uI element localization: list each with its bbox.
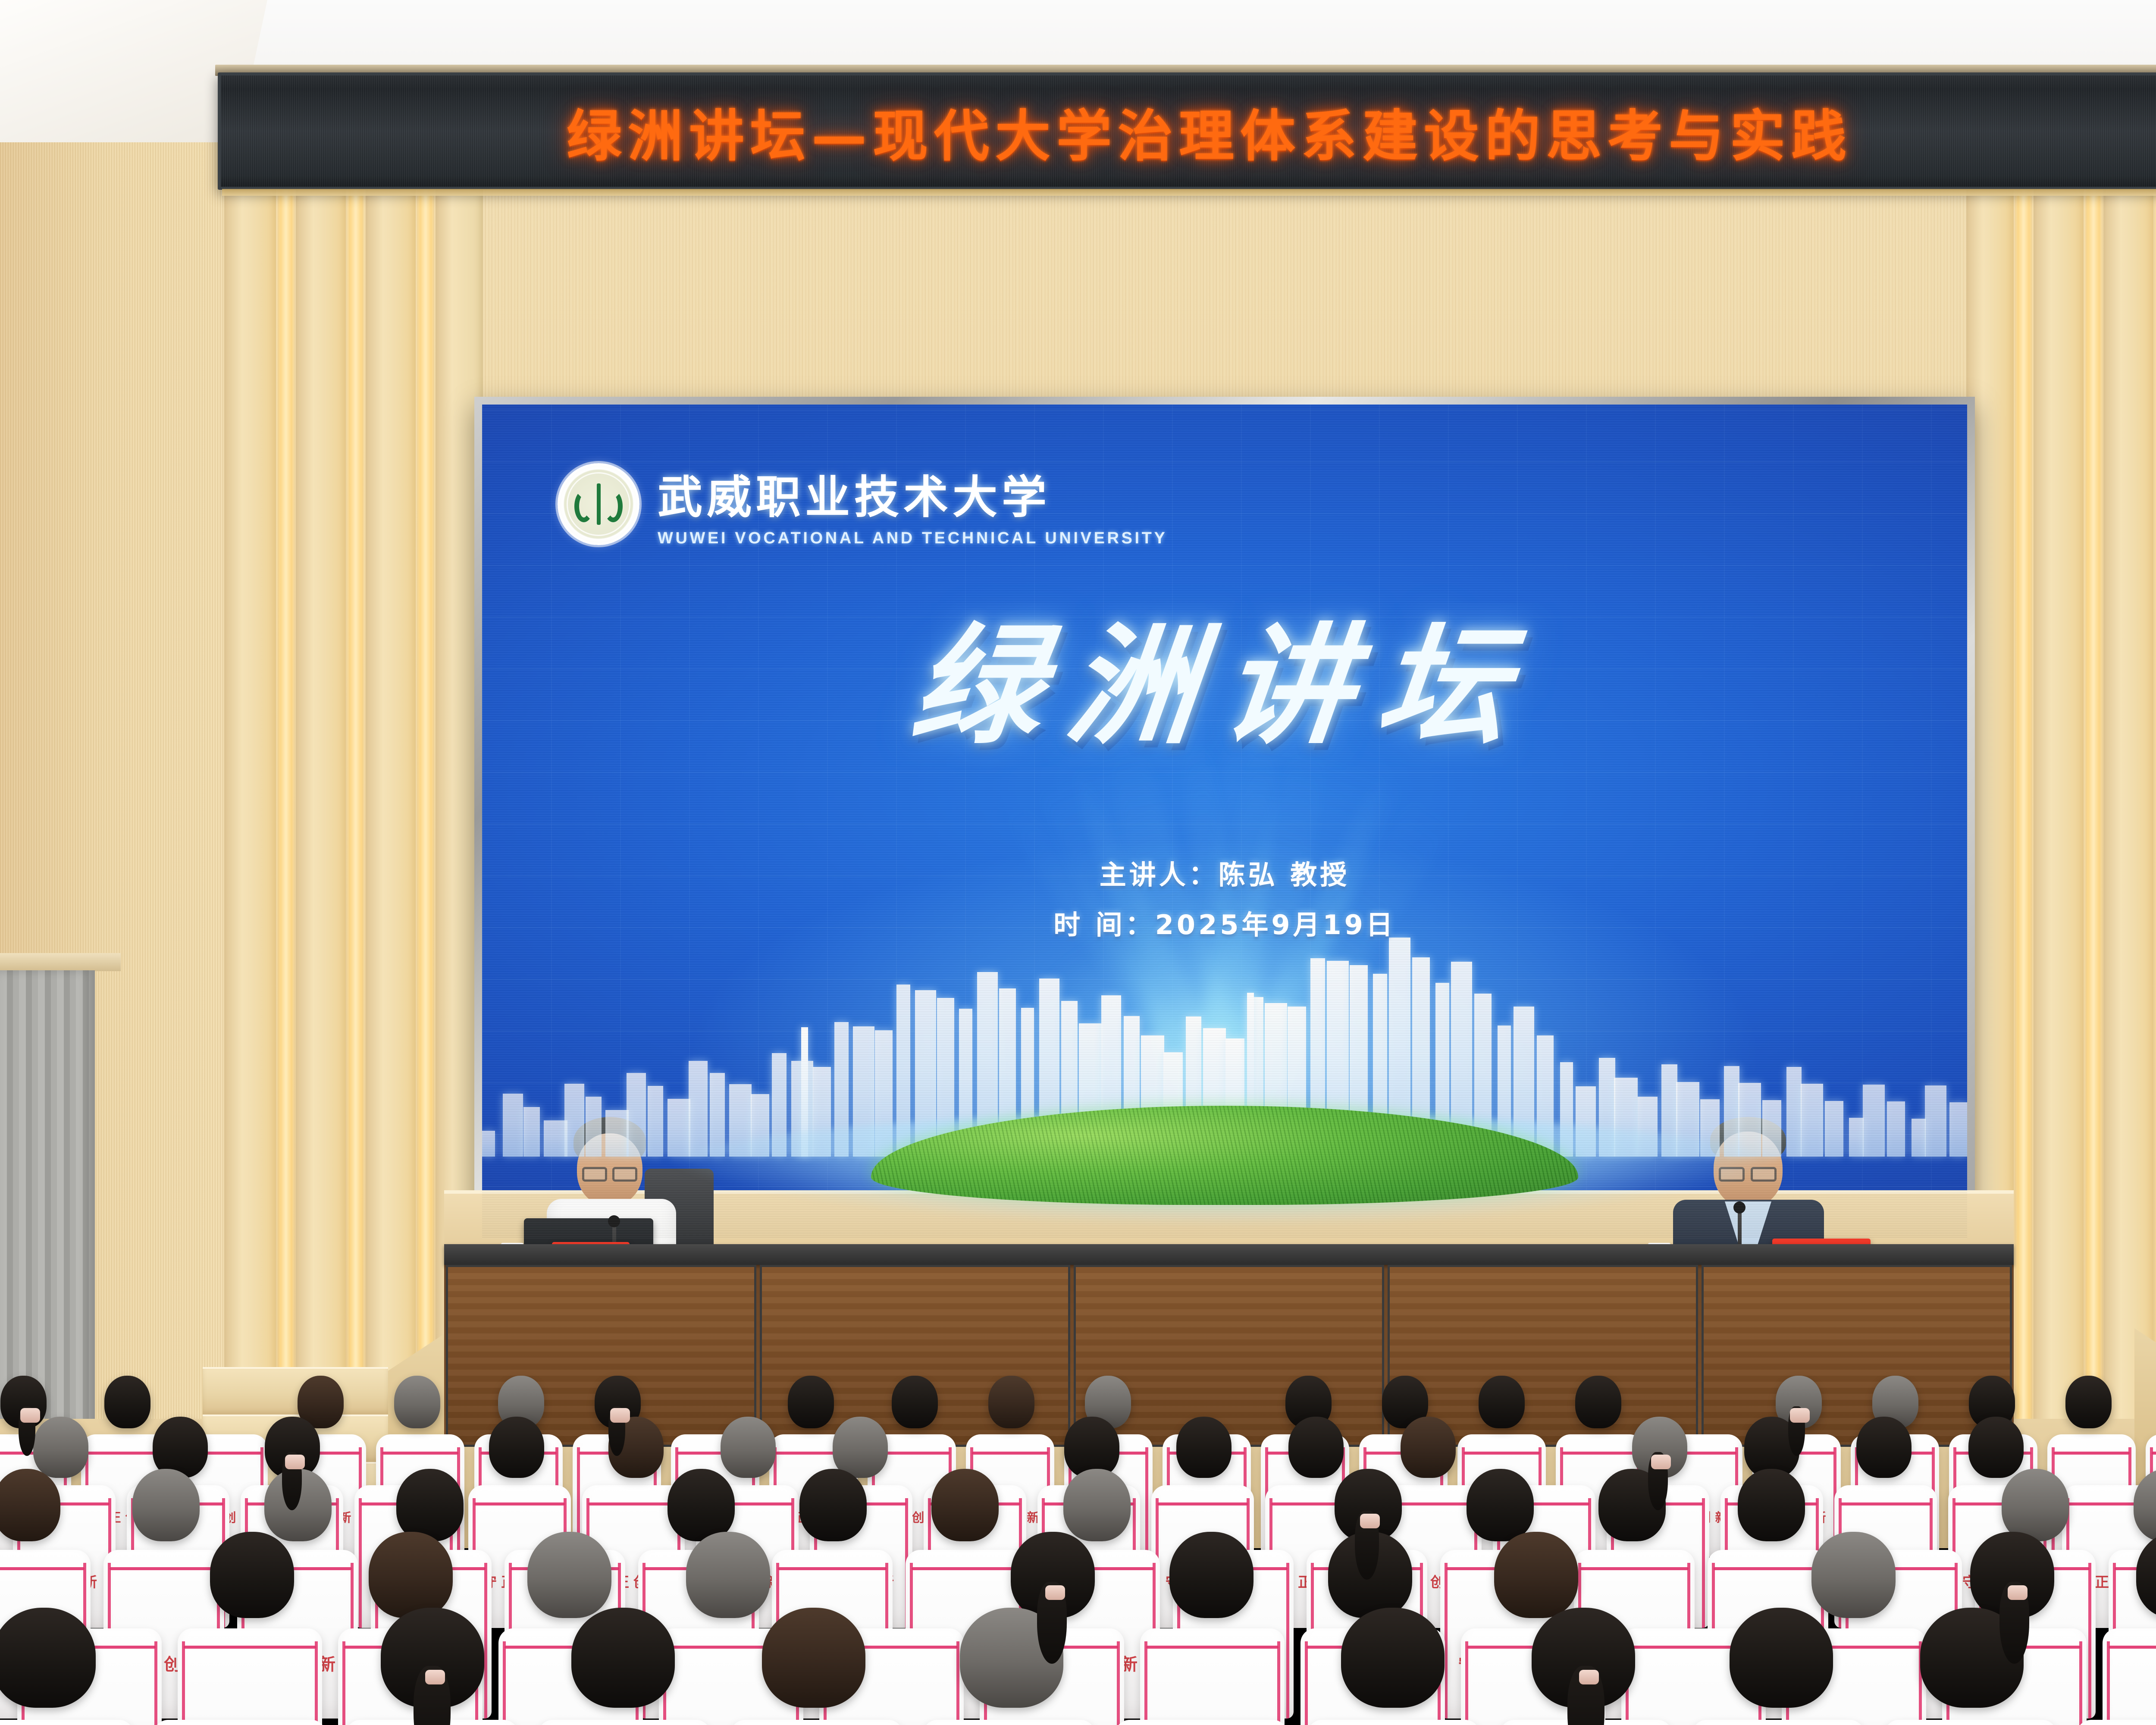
audience-head [33, 1417, 89, 1478]
seat-piping [1840, 1502, 1931, 1505]
seat-piping [1117, 1641, 1120, 1725]
audience-head [527, 1532, 611, 1618]
hair-clip [285, 1455, 305, 1469]
hair-clip [1045, 1585, 1065, 1600]
seat-piping [1286, 1563, 1289, 1719]
skyline-building [627, 1073, 646, 1157]
seat-piping [1145, 1447, 1148, 1557]
audience-head [1968, 1417, 2024, 1478]
led-screen: 武威职业技术大学 WUWEI VOCATIONAL AND TECHNICAL … [482, 405, 1967, 1239]
skyline-building [1786, 1067, 1802, 1157]
seat-piping [182, 1641, 185, 1725]
seat-piping [2109, 1646, 2156, 1649]
audience-head [2065, 1376, 2112, 1428]
forum-meta: 主讲人：陈弘 教授 时 间：2025年9月19日 [482, 853, 1967, 953]
audience-head [892, 1376, 938, 1428]
hair-clip [1360, 1514, 1380, 1528]
audience-seat[interactable]: 守正创新 [2077, 1720, 2156, 1725]
audience-head [1176, 1417, 1232, 1478]
city-skyline-graphic [482, 966, 1967, 1207]
seat-piping [1562, 1452, 1638, 1455]
audience-head [762, 1608, 865, 1708]
seat-piping [1277, 1641, 1280, 1725]
audience-head [788, 1376, 834, 1428]
audience-head [686, 1532, 770, 1618]
hair-clip [2008, 1585, 2028, 1600]
audience-seat[interactable]: 守正创新 [923, 1720, 1095, 1725]
green-island-graphic [871, 1106, 1578, 1205]
speaker-line: 主讲人：陈弘 教授 [482, 853, 1967, 892]
audience-head [1811, 1532, 1895, 1618]
audience-head [1401, 1417, 1456, 1478]
university-name-cn: 武威职业技术大学 [658, 461, 1167, 526]
skyline-building [544, 1120, 567, 1157]
audience-head [104, 1376, 150, 1428]
skyline-building [482, 1131, 495, 1157]
seat-piping [315, 1641, 318, 1725]
forum-title: 绿洲讲坛 [482, 581, 1967, 768]
seat-piping [972, 1452, 1048, 1455]
audience-head [1341, 1608, 1445, 1708]
curtain-rail [0, 953, 121, 971]
seat-piping [1157, 1502, 1248, 1505]
skyline-building [1925, 1085, 1946, 1157]
skyline-building [648, 1086, 663, 1157]
seat-piping [912, 1567, 1020, 1570]
audience-seat[interactable]: 守正创新 [730, 1720, 903, 1725]
tree-seal-icon [558, 463, 639, 545]
auditorium-scene: IIC 绿洲讲坛—现代大学治理体系建设的思考与实践 [0, 0, 2156, 1725]
skyline-building [1912, 1119, 1926, 1157]
skyline-building [689, 1061, 708, 1157]
date-line: 时 间：2025年9月19日 [482, 903, 1967, 942]
audience-head [1730, 1608, 1833, 1708]
skyline-building [1762, 1100, 1781, 1157]
audience-head [1738, 1469, 1805, 1541]
seat-piping [1702, 1498, 1705, 1628]
led-banner-text: 绿洲讲坛—现代大学治理体系建设的思考与实践 [567, 91, 1852, 171]
skyline-building [564, 1084, 584, 1157]
audience-head [132, 1469, 200, 1541]
seat-piping [1146, 1646, 1279, 1649]
audience-head [833, 1417, 888, 1478]
audience-head [1479, 1376, 1525, 1428]
seat-piping [1714, 1567, 1822, 1570]
hair-clip [610, 1408, 630, 1423]
led-banner: 绿洲讲坛—现代大学治理体系建设的思考与实践 [218, 65, 2156, 194]
audience-head [394, 1376, 440, 1428]
skyline-building [503, 1094, 523, 1157]
audience-head [489, 1417, 545, 1478]
skyline-building [586, 1097, 602, 1157]
audience-seat[interactable]: 守正创新 [178, 1628, 322, 1725]
audience-head [2002, 1469, 2069, 1541]
audience-head [1575, 1376, 1621, 1428]
hair-clip [1579, 1670, 1599, 1684]
seat-piping [1445, 1563, 1448, 1719]
skyline-building [1887, 1101, 1905, 1157]
seat-piping [2053, 1452, 2130, 1455]
audience-head [988, 1376, 1034, 1428]
audience-seat[interactable]: 守正创新 [2103, 1628, 2156, 1725]
banner-bottom-trim [222, 189, 2156, 196]
led-banner-panel: 绿洲讲坛—现代大学治理体系建设的思考与实践 [218, 72, 2156, 190]
audience-head [1169, 1532, 1253, 1618]
hair-clip [1651, 1455, 1671, 1469]
seat-piping [1463, 1452, 1540, 1455]
skyline-building [605, 1110, 629, 1157]
seat-piping [87, 1452, 163, 1455]
seat-piping [503, 1641, 506, 1725]
seat-piping [1580, 1567, 1689, 1570]
audience-head [0, 1469, 60, 1541]
seat-piping [342, 1641, 345, 1725]
skyline-building [1863, 1085, 1885, 1157]
seat-piping [154, 1641, 157, 1725]
audience-head [667, 1469, 735, 1541]
audience-seat[interactable]: 守正创新 [1692, 1720, 1865, 1725]
audience-seat[interactable]: 守正创新 [154, 1720, 326, 1725]
seat-piping [1465, 1641, 1468, 1725]
audience-head [721, 1417, 776, 1478]
audience-seat[interactable]: 守正创新 [538, 1720, 711, 1725]
microphone-head [608, 1215, 620, 1227]
skyline-building [1724, 1066, 1739, 1157]
audience-seat[interactable]: 守正创新 [1884, 1720, 2057, 1725]
skyline-building [1738, 1083, 1761, 1157]
seat-piping [484, 1563, 487, 1719]
seat-piping [359, 1498, 362, 1628]
audience-head [1856, 1417, 1912, 1478]
audience-head [369, 1532, 452, 1618]
audience-head [1467, 1469, 1534, 1541]
seat-piping [474, 1502, 565, 1505]
audience-head [931, 1469, 999, 1541]
seat-piping [110, 1567, 218, 1570]
audience-seating: 守正创新守正创新守正创新守正创新守正创新守正创新守正创新守正创新守正创新守正创新… [0, 1414, 2156, 1725]
seat-piping [0, 1567, 85, 1570]
table-top [444, 1244, 2014, 1265]
seat-piping [1144, 1641, 1147, 1725]
seat-piping [956, 1641, 959, 1725]
skyline-building [1949, 1102, 1967, 1157]
audience-seat[interactable]: 守正创新 [1115, 1720, 1288, 1725]
skyline-building [1801, 1084, 1823, 1157]
seat-piping [2107, 1641, 2110, 1725]
audience-seat[interactable]: 守正创新 [1140, 1628, 1285, 1725]
led-screen-bezel: 武威职业技术大学 WUWEI VOCATIONAL AND TECHNICAL … [474, 397, 1975, 1246]
university-name-en: WUWEI VOCATIONAL AND TECHNICAL UNIVERSIT… [658, 529, 1167, 548]
audience-head [210, 1532, 294, 1618]
skyline-building [1825, 1101, 1843, 1157]
audience-head [0, 1608, 96, 1708]
seat-piping [2088, 1563, 2091, 1719]
audience-head [799, 1469, 867, 1541]
audience-seat[interactable]: 守正创新 [1307, 1720, 1480, 1725]
seat-piping [184, 1646, 316, 1649]
skyline-building [1849, 1118, 1864, 1157]
hair-clip [425, 1670, 445, 1684]
seat-piping [1305, 1641, 1308, 1725]
audience-head [1288, 1417, 1344, 1478]
hair-clip [20, 1408, 40, 1423]
skyline-building [523, 1107, 540, 1157]
audience-head [1063, 1469, 1131, 1541]
seat-piping [588, 1502, 679, 1505]
audience-head [396, 1469, 464, 1541]
seat-piping [778, 1567, 887, 1570]
seat-piping [382, 1452, 458, 1455]
audience-seat[interactable]: 守正创新 [0, 1720, 134, 1725]
university-logo: 武威职业技术大学 WUWEI VOCATIONAL AND TECHNICAL … [558, 461, 1167, 548]
audience-head [1494, 1532, 1578, 1618]
audience-head [571, 1608, 675, 1708]
skyline-building [667, 1099, 690, 1157]
seat-piping [2079, 1641, 2082, 1725]
hair-clip [1790, 1408, 1810, 1423]
